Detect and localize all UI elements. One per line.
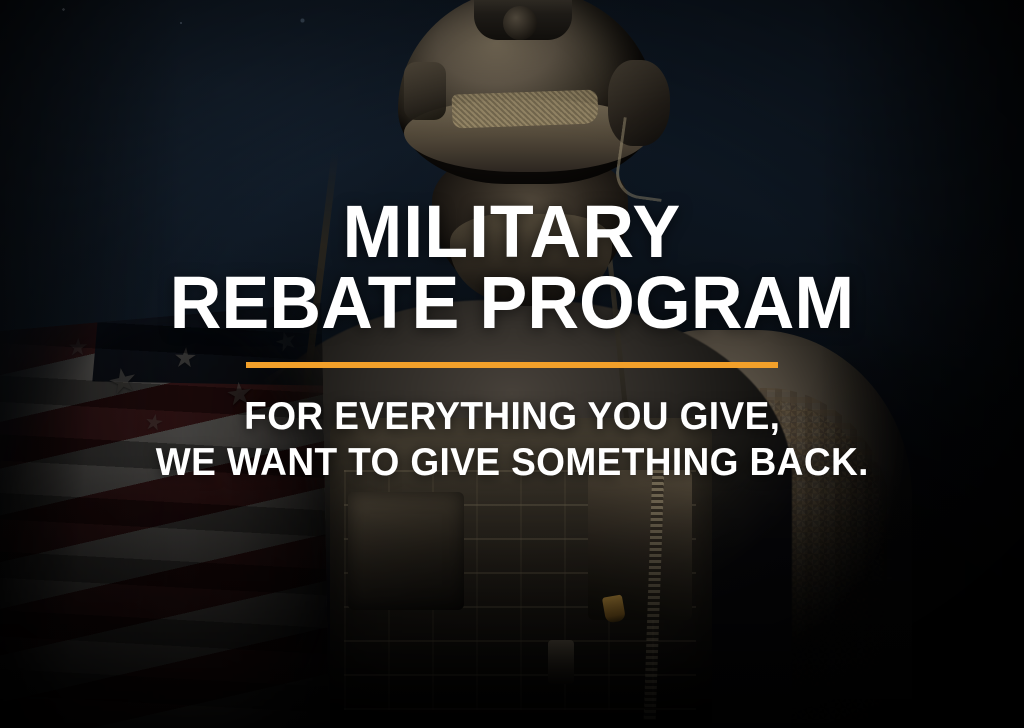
page-title: MILITARY REBATE PROGRAM: [170, 196, 855, 338]
subtitle-line-2: WE WANT TO GIVE SOMETHING BACK.: [155, 440, 868, 486]
headline-line-2: REBATE PROGRAM: [170, 267, 855, 338]
subtitle: FOR EVERYTHING YOU GIVE, WE WANT TO GIVE…: [155, 394, 868, 486]
headline-line-1: MILITARY: [170, 196, 855, 267]
military-rebate-banner: ★ ★ ★ ★ ★ ★ MILITARY REBATE PROGRAM FOR …: [0, 0, 1024, 728]
orange-divider: [246, 362, 778, 368]
banner-content: MILITARY REBATE PROGRAM FOR EVERYTHING Y…: [0, 0, 1024, 728]
subtitle-line-1: FOR EVERYTHING YOU GIVE,: [155, 394, 868, 440]
